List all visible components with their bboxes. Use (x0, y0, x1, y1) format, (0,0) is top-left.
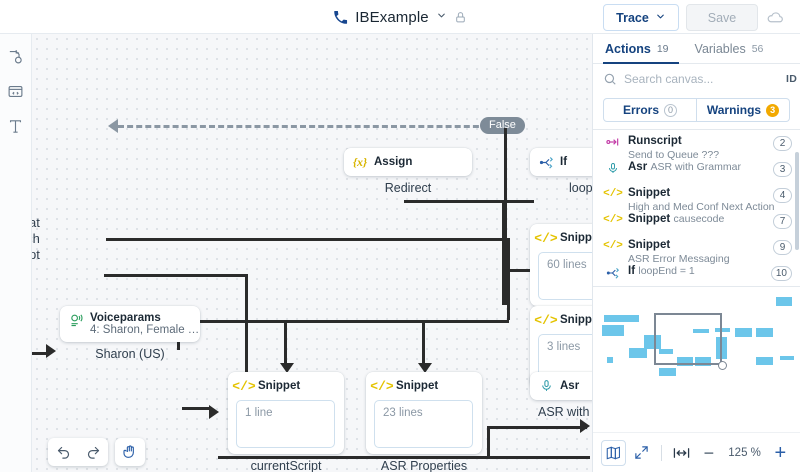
node-assign-redirect[interactable]: {x} Assign Redirect (344, 148, 472, 195)
undo-button[interactable] (48, 438, 78, 466)
fit-to-screen-icon[interactable] (628, 440, 653, 466)
node-card[interactable]: </> Snippet 23 lines (366, 372, 482, 454)
phone-icon (333, 10, 348, 25)
node-snippet-asr-properties[interactable]: </> Snippet 23 lines ASR Properties (366, 372, 482, 472)
microphone-icon (605, 159, 621, 175)
action-number: 10 (771, 266, 792, 281)
node-body-text: 60 lines (538, 252, 592, 300)
zoom-out-button[interactable]: − (696, 440, 721, 466)
snippet-icon: </> (605, 211, 621, 226)
action-title: Snippet (628, 213, 670, 225)
node-snippet-60-lines[interactable]: </> Snippet 60 lines (530, 224, 592, 306)
search-row: ID (593, 64, 800, 94)
panel-tabs: Actions 19 Variables 56 (593, 34, 800, 64)
node-header: </> Snippet (538, 312, 592, 328)
list-item-text: Snippet ASR Error Messaging (628, 237, 766, 265)
node-card[interactable]: If (530, 148, 592, 176)
action-title: Runscript (628, 135, 682, 147)
voice-icon (68, 312, 84, 328)
errors-filter-button[interactable]: Errors 0 (603, 98, 697, 122)
tab-actions[interactable]: Actions 19 (603, 34, 679, 64)
top-actions: Trace Save (603, 4, 792, 31)
branch-label-false: False (480, 117, 525, 134)
action-title: Asr (628, 161, 647, 173)
warnings-label: Warnings (707, 103, 761, 117)
fit-width-icon[interactable] (669, 440, 694, 466)
left-tool-rail (0, 34, 32, 472)
action-title: If (628, 265, 635, 277)
node-caption: loopE (530, 181, 592, 195)
node-type-label: Snippet (560, 314, 592, 326)
minimap-icon[interactable] (601, 440, 626, 466)
node-body-text: 23 lines (374, 400, 473, 448)
edge-h-1 (404, 200, 534, 203)
node-type-label: Snippet (560, 232, 592, 244)
tab-label: Actions (605, 42, 651, 56)
action-list-scrollbar[interactable] (795, 152, 799, 250)
edge-v-8 (487, 426, 490, 458)
canvas-tool-bar (48, 438, 145, 466)
node-header: </> Snippet (538, 230, 592, 246)
pan-tool-group (115, 438, 145, 466)
node-type-label: Snippet (258, 380, 300, 392)
undo-redo-group (48, 438, 108, 466)
snippet-icon: </> (605, 237, 621, 252)
plus-glyph: + (774, 443, 786, 463)
node-caption: Redirect (344, 181, 472, 195)
node-caption: currentScript (228, 459, 344, 472)
node-type-label: Assign (374, 156, 412, 168)
integration-icon[interactable] (6, 46, 26, 66)
action-number: 9 (773, 240, 792, 255)
branch-icon (605, 263, 621, 280)
chevron-down-icon (655, 11, 666, 25)
minimap-node (659, 368, 676, 376)
node-type-label: Asr (560, 380, 579, 392)
trace-label: Trace (616, 11, 649, 25)
edge-h-3 (104, 274, 248, 277)
chevron-down-icon[interactable] (436, 10, 447, 24)
node-caption: Sharon (US) (60, 347, 200, 361)
action-subtitle: loopEnd = 1 (638, 265, 694, 277)
node-caption: ASR with (530, 405, 592, 419)
node-header: {x} Assign (352, 154, 463, 170)
node-body-text: 1 line (236, 400, 335, 448)
errors-count-badge: 0 (664, 104, 677, 117)
hand-icon[interactable] (115, 438, 145, 466)
snippet-icon: </> (538, 230, 554, 246)
edge-arrow-right-2 (580, 419, 590, 433)
node-card[interactable]: Voiceparams 4: Sharon, Female … (60, 306, 200, 342)
tab-label: Variables (695, 42, 746, 56)
save-label: Save (708, 11, 737, 25)
edge-v-3 (502, 200, 505, 305)
edge-arrow-right-4 (46, 344, 56, 358)
node-header: Asr (538, 378, 592, 394)
branch-icon (538, 154, 554, 170)
edge-h-4 (182, 407, 212, 410)
list-item-text: Runscript Send to Queue ??? (628, 133, 766, 161)
action-title: Snippet (628, 187, 670, 199)
action-number: 3 (773, 162, 792, 177)
save-button[interactable]: Save (686, 4, 758, 31)
list-item[interactable]: Asr ASR with Grammar 3 (593, 156, 800, 182)
snippet-icon: </> (538, 312, 554, 328)
minimap-viewport[interactable] (654, 313, 722, 365)
list-item-text: If loopEnd = 1 (628, 263, 764, 277)
list-item-text: Snippet High and Med Conf Next Action (628, 185, 766, 213)
cloud-sync-icon[interactable] (758, 4, 792, 31)
errors-label: Errors (623, 103, 659, 117)
tab-variables[interactable]: Variables 56 (693, 34, 774, 64)
edge-v-6 (284, 320, 287, 365)
minimap-node (735, 328, 752, 337)
assign-icon: {x} (352, 154, 368, 170)
flow-canvas[interactable]: ET at each e script False (32, 34, 592, 472)
minimap-node (607, 357, 613, 363)
list-item[interactable]: If loopEnd = 1 10 (593, 260, 800, 286)
node-card[interactable]: Asr (530, 372, 592, 400)
minimap-node (756, 328, 773, 337)
sort-by-id-label[interactable]: ID (786, 73, 797, 85)
action-number: 4 (773, 188, 792, 203)
search-input[interactable] (624, 72, 779, 86)
action-number: 7 (773, 214, 792, 229)
microphone-icon (538, 378, 554, 394)
snippet-icon: </> (605, 185, 621, 200)
page-title: IBExample (355, 9, 428, 26)
node-voiceparams[interactable]: Voiceparams 4: Sharon, Female … Sharon (… (60, 306, 200, 361)
minimap-resize-handle[interactable] (718, 361, 727, 370)
minimap-node (756, 357, 773, 365)
node-asr[interactable]: Asr ASR with (530, 372, 592, 419)
divider (661, 445, 662, 461)
edge-h-8 (32, 352, 50, 355)
node-caption: ASR Properties (366, 459, 482, 472)
action-number: 2 (773, 136, 792, 151)
search-icon (603, 72, 617, 86)
zoom-bar: − 125 % + (593, 432, 800, 472)
node-header: Voiceparams 4: Sharon, Female … (68, 312, 191, 336)
warnings-count-badge: 3 (766, 104, 779, 117)
edge-h-6 (487, 426, 587, 429)
minus-glyph: − (704, 444, 715, 462)
list-item[interactable]: </> Snippet ASR Error Messaging 9 (593, 234, 800, 260)
list-item-text: Snippet causecode (628, 211, 766, 225)
minimap-node (602, 325, 624, 336)
right-panel: Actions 19 Variables 56 ID Errors 0 (592, 34, 800, 472)
node-card[interactable]: </> Snippet 60 lines (530, 224, 592, 306)
node-subtitle: 4: Sharon, Female … (90, 324, 199, 336)
list-item[interactable]: </> Snippet High and Med Conf Next Actio… (593, 182, 800, 208)
edge-v-7 (422, 320, 425, 365)
runscript-icon (605, 133, 621, 148)
minimap-node (776, 297, 792, 306)
edge-v-loop (507, 238, 510, 320)
edge-arrow-left (108, 119, 118, 133)
node-card[interactable]: </> Snippet 1 line (228, 372, 344, 454)
edge-v-1 (504, 128, 507, 170)
flow-designer-app: IBExample Trace Save (0, 0, 800, 472)
code-window-icon[interactable] (6, 81, 26, 101)
lock-icon[interactable] (454, 11, 467, 24)
tab-count: 56 (752, 43, 764, 55)
edge-h-5 (177, 320, 509, 323)
node-if-loopend[interactable]: If loopE (530, 148, 592, 195)
edge-false-dashed (118, 125, 488, 128)
filter-row: Errors 0 Warnings 3 (593, 94, 800, 129)
action-subtitle: causecode (674, 213, 725, 225)
node-type-label: Voiceparams (90, 312, 199, 324)
minimap-node (780, 356, 794, 360)
list-item-text: Asr ASR with Grammar (628, 159, 766, 173)
redo-button[interactable] (78, 438, 108, 466)
node-header: If (538, 154, 592, 170)
canvas-note-text: ET at each e script (32, 215, 40, 263)
edge-h-top-loop (106, 238, 510, 241)
minimap-node (629, 348, 647, 358)
tab-count: 19 (657, 43, 669, 55)
action-subtitle: ASR with Grammar (651, 161, 741, 173)
warnings-filter-button[interactable]: Warnings 3 (697, 98, 790, 122)
snippet-icon: </> (374, 378, 390, 394)
node-header: </> Snippet (236, 378, 335, 394)
node-snippet-currentscript[interactable]: </> Snippet 1 line currentScript (228, 372, 344, 472)
minimap-node (604, 315, 639, 322)
snippet-icon: </> (236, 378, 252, 394)
trace-button[interactable]: Trace (603, 4, 679, 31)
node-type-label: If (560, 156, 567, 168)
node-header: </> Snippet (374, 378, 473, 394)
action-title: Snippet (628, 239, 670, 251)
node-type-label: Snippet (396, 380, 438, 392)
list-item[interactable]: Runscript Send to Queue ??? 2 (593, 130, 800, 156)
zoom-level-label: 125 % (724, 447, 766, 459)
text-tool-icon[interactable] (6, 116, 26, 136)
zoom-in-button[interactable]: + (768, 440, 793, 466)
node-card[interactable]: {x} Assign (344, 148, 472, 176)
action-list[interactable]: Runscript Send to Queue ??? 2 Asr ASR wi… (593, 129, 800, 286)
top-bar: IBExample Trace Save (0, 0, 800, 34)
